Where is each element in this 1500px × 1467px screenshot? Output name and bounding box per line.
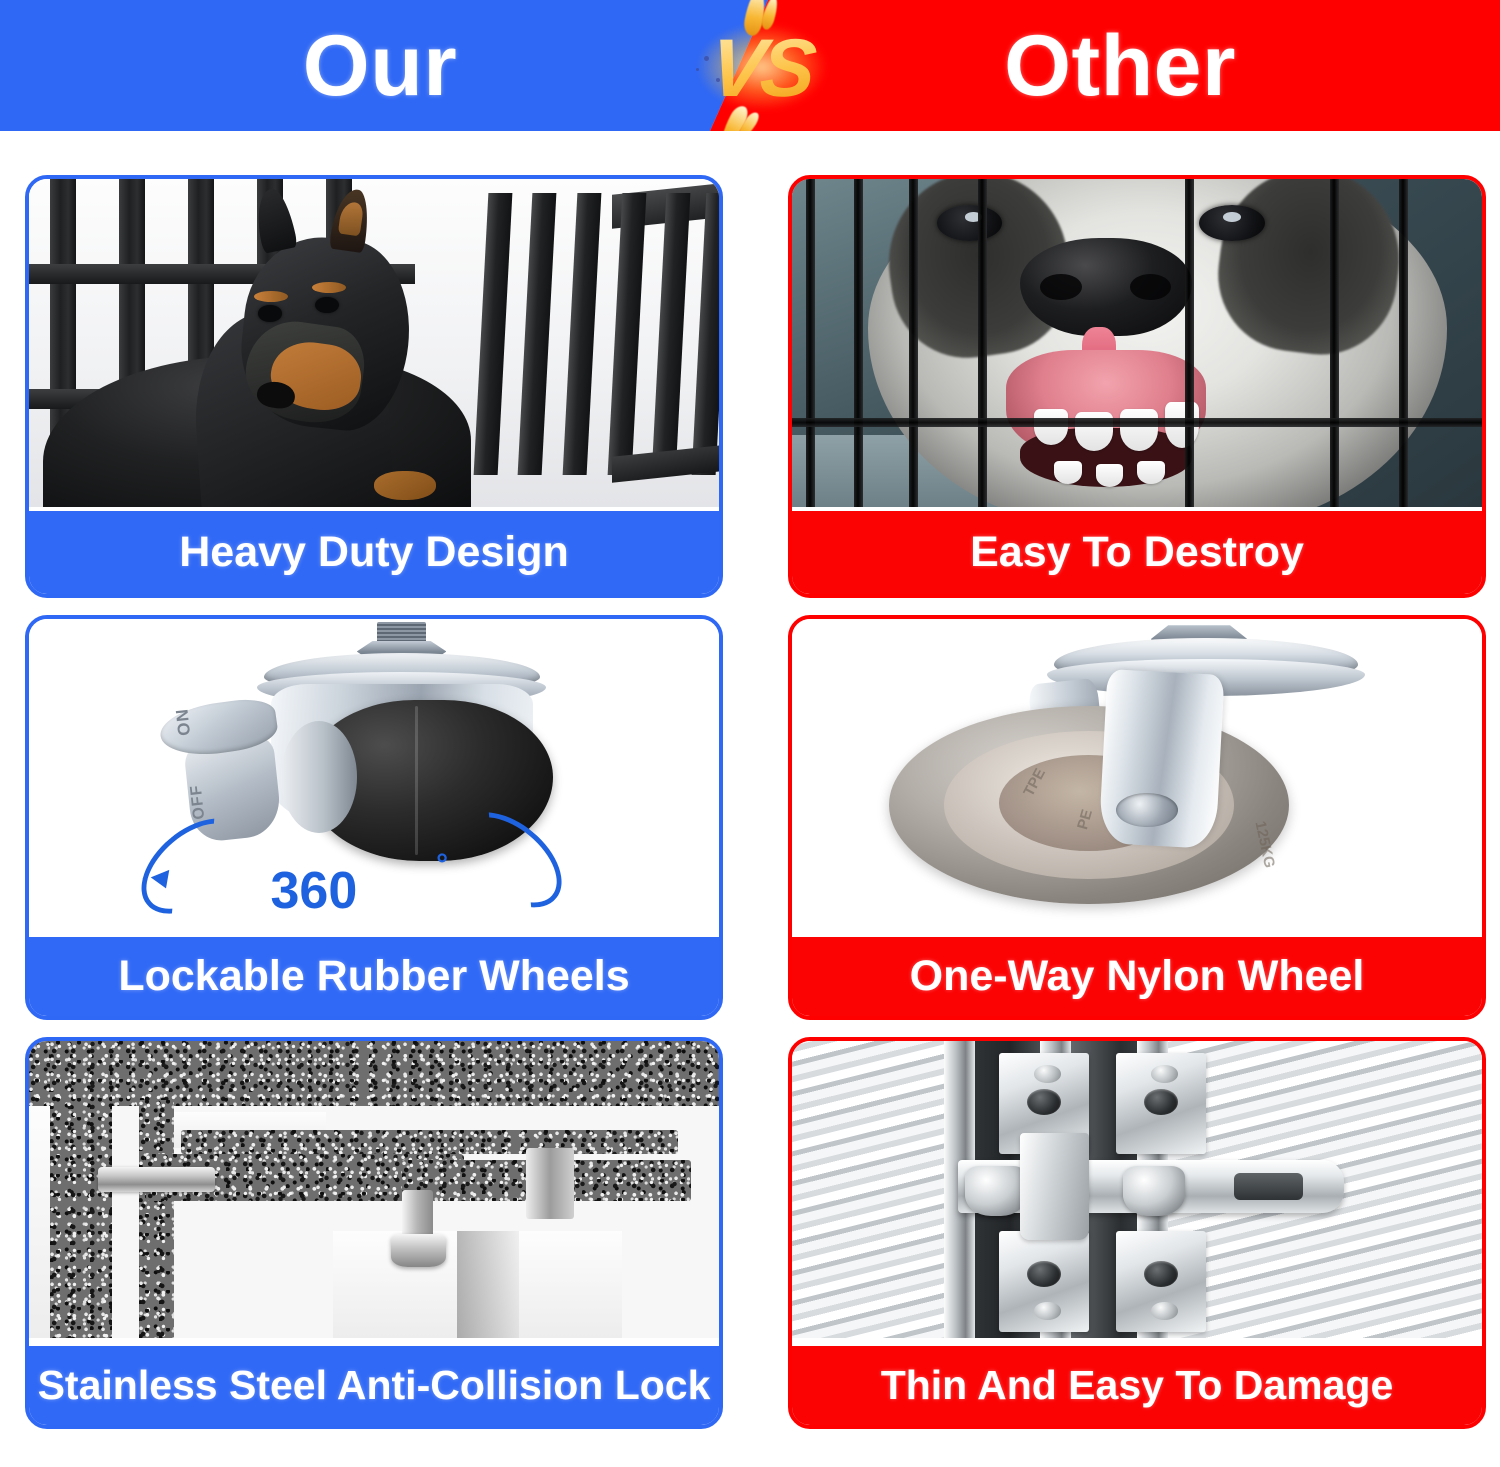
card-ours-anti-collision-lock: Stainless Steel Anti-Collision Lock [25, 1037, 723, 1429]
degree-symbol: ° [436, 848, 448, 882]
caption-thin-easy-to-damage: Thin And Easy To Damage [792, 1346, 1482, 1425]
rotation-360-label: 360 [271, 861, 358, 921]
header-other-title: Other [860, 0, 1380, 131]
photo-husky-biting-cage [792, 179, 1482, 507]
brake-on-label: ON [173, 707, 196, 736]
caption-one-way-nylon-wheel: One-Way Nylon Wheel [792, 937, 1482, 1016]
caption-heavy-duty-design: Heavy Duty Design [29, 511, 719, 594]
photo-doberman-heavy-cage [29, 179, 719, 507]
caption-anti-collision-lock: Stainless Steel Anti-Collision Lock [29, 1346, 719, 1425]
photo-nylon-caster-wheel: TPE PE 125KG [792, 619, 1482, 929]
caption-lockable-rubber-wheels: Lockable Rubber Wheels [29, 937, 719, 1016]
card-ours-lockable-rubber-wheels: ON OFF 360 ° Lockable Rubber Wheels [25, 615, 723, 1020]
photo-lockable-rubber-caster: ON OFF 360 ° [29, 619, 719, 929]
caption-easy-to-destroy: Easy To Destroy [792, 511, 1482, 594]
comparison-header: Our Other VS [0, 0, 1500, 131]
brake-off-label: OFF [188, 783, 210, 820]
card-theirs-easy-to-destroy: Easy To Destroy [788, 175, 1486, 598]
photo-thin-chrome-latch [792, 1041, 1482, 1338]
card-theirs-one-way-nylon-wheel: TPE PE 125KG One-Way Nylon Wheel [788, 615, 1486, 1020]
comparison-grid: Heavy Duty Design [0, 131, 1500, 1467]
photo-heavy-slide-bolt-latch [29, 1041, 719, 1338]
card-theirs-thin-easy-to-damage: Thin And Easy To Damage [788, 1037, 1486, 1429]
card-ours-heavy-duty-design: Heavy Duty Design [25, 175, 723, 598]
header-our-title: Our [120, 0, 640, 131]
